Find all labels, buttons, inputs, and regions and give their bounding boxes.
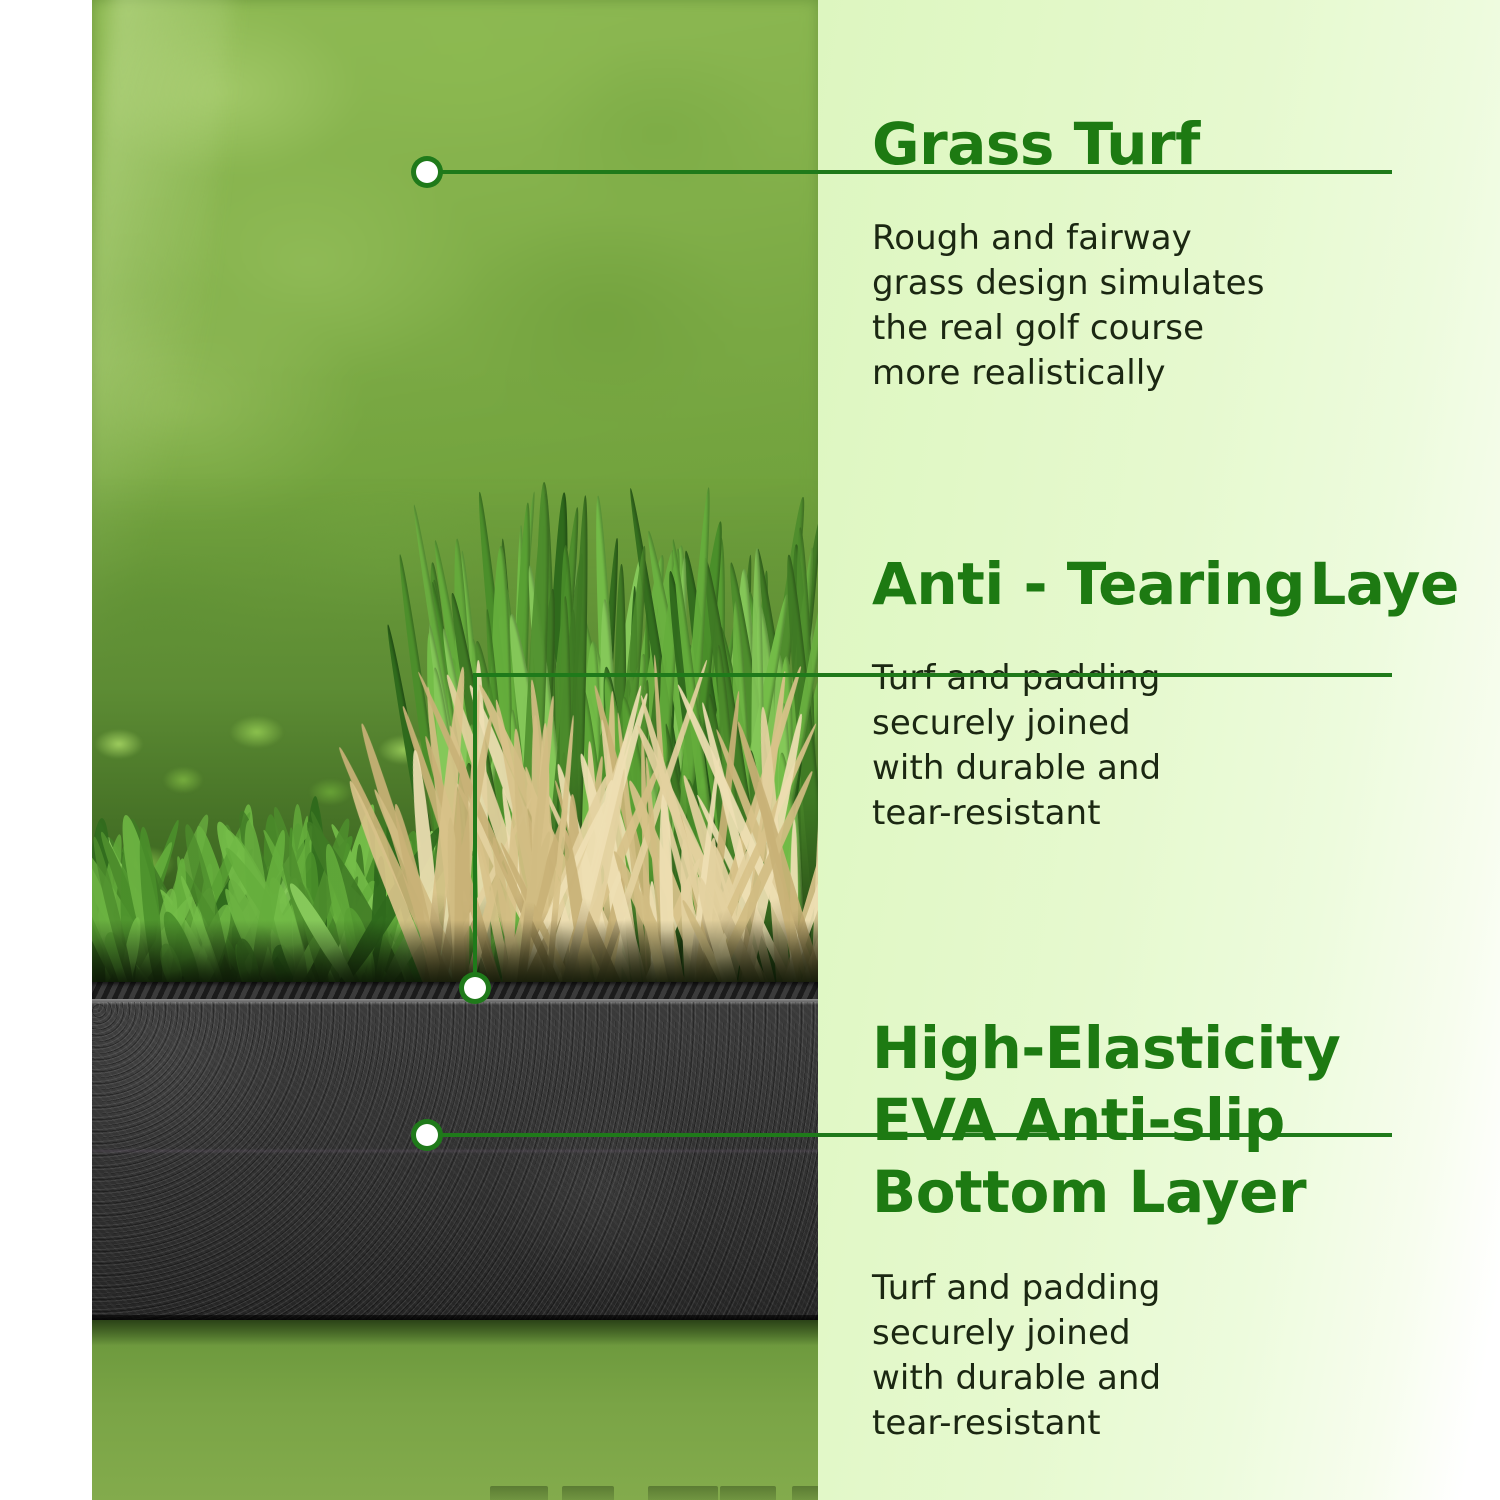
floor-tile-mark <box>792 1486 818 1500</box>
body-line: with durable and <box>872 1356 1500 1401</box>
green-floor <box>92 1320 818 1500</box>
eva-foam-base <box>92 1002 818 1320</box>
turf-root-shadow <box>92 920 818 990</box>
heading-line: EVA Anti-slip <box>872 1084 1285 1156</box>
floor-tile-mark <box>648 1486 718 1500</box>
body-anti-tearing-layer: Turf and padding securely joined with du… <box>872 656 1459 836</box>
section-eva-bottom-layer: High-Elasticity EVA Anti-slip Bottom Lay… <box>872 1012 1500 1446</box>
tall-fairway-blades <box>92 360 818 990</box>
body-grass-turf: Rough and fairway grass design simulates… <box>872 216 1265 396</box>
anti-tearing-backing <box>92 982 818 1000</box>
heading-line: Anti - Tearing <box>872 548 1305 620</box>
floor-tile-marks <box>92 1482 818 1500</box>
heading-line: Grass Turf <box>872 108 1200 180</box>
body-line: more realistically <box>872 351 1265 396</box>
heading-grass-turf: Grass Turf <box>872 108 1200 180</box>
infographic-canvas: Grass Turf Rough and fairway grass desig… <box>0 0 1500 1500</box>
heading-line: Laye <box>1309 548 1458 620</box>
heading-anti-tearing-layer: Anti - Tearing Laye <box>872 548 1459 620</box>
section-anti-tearing-layer: Anti - Tearing Laye Turf and padding sec… <box>872 548 1459 836</box>
body-line: tear-resistant <box>872 1401 1500 1446</box>
eva-grain-texture <box>92 1002 818 1320</box>
floor-contact-shadow <box>92 1320 818 1346</box>
body-line: tear-resistant <box>872 791 1459 836</box>
body-line: Turf and padding <box>872 656 1459 701</box>
heading-line: High-Elasticity <box>872 1012 1340 1084</box>
body-line: securely joined <box>872 1311 1500 1356</box>
body-eva-bottom-layer: Turf and padding securely joined with du… <box>872 1266 1500 1446</box>
turf-mass <box>92 360 818 990</box>
heading-eva-bottom-layer: High-Elasticity EVA Anti-slip Bottom Lay… <box>872 1012 1500 1228</box>
body-line: the real golf course <box>872 306 1265 351</box>
floor-tile-mark <box>490 1486 548 1500</box>
body-line: with durable and <box>872 746 1459 791</box>
description-panel: Grass Turf Rough and fairway grass desig… <box>818 0 1500 1500</box>
heading-line: Bottom Layer <box>872 1156 1306 1228</box>
body-line: Turf and padding <box>872 1266 1500 1311</box>
floor-tile-mark <box>720 1486 776 1500</box>
product-photo <box>92 0 818 1500</box>
body-line: securely joined <box>872 701 1459 746</box>
eva-seam-line <box>92 1150 818 1152</box>
body-line: grass design simulates <box>872 261 1265 306</box>
section-grass-turf: Grass Turf Rough and fairway grass desig… <box>872 108 1265 396</box>
body-line: Rough and fairway <box>872 216 1265 261</box>
floor-tile-mark <box>562 1486 614 1500</box>
